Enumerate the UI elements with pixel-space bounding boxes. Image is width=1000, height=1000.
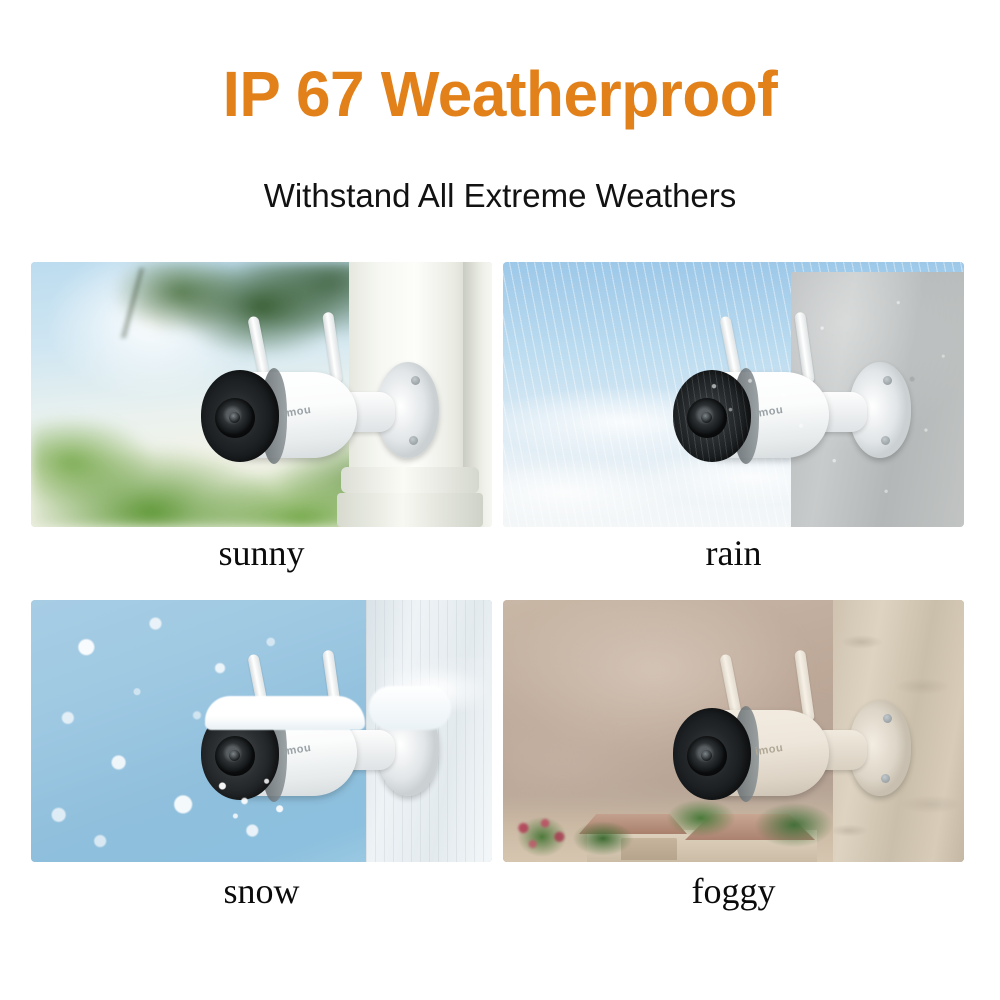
column-base — [337, 493, 483, 527]
mount-screw-top-icon — [883, 714, 892, 723]
photo-foggy: imou — [503, 600, 964, 862]
security-camera-snow: imou — [199, 648, 449, 823]
lens-glass — [701, 750, 712, 761]
security-camera-foggy: imou — [671, 648, 921, 823]
caption-rain: rain — [503, 530, 964, 576]
page-title: IP 67 Weatherproof — [15, 58, 985, 130]
caption-sunny: sunny — [31, 530, 492, 576]
caption-snow: snow — [31, 868, 492, 914]
mount-screw-top-icon — [411, 376, 420, 385]
shrub-b — [561, 812, 645, 860]
weather-tile-rain: imou rain — [503, 262, 964, 600]
mount-screw-bottom-icon — [881, 436, 890, 445]
caption-foggy: foggy — [503, 868, 964, 914]
weather-tile-foggy: imou foggy — [503, 600, 964, 934]
photo-rain: imou — [503, 262, 964, 527]
flowering-bush — [511, 816, 573, 856]
mount-screw-bottom-icon — [409, 436, 418, 445]
security-camera-rain: imou — [671, 310, 921, 485]
lens-glass — [229, 750, 240, 761]
page-subtitle: Withstand All Extreme Weathers — [0, 176, 1000, 216]
marketing-banner: IP 67 Weatherproof Withstand All Extreme… — [0, 0, 1000, 1000]
tree-branch — [61, 268, 211, 338]
weather-tile-snow: imou snow — [31, 600, 492, 934]
mount-screw-top-icon — [883, 376, 892, 385]
weather-tile-sunny: imou sunny — [31, 262, 492, 600]
security-camera-sunny: imou — [199, 310, 449, 485]
lens-glass — [229, 412, 240, 423]
mount-screw-bottom-icon — [881, 774, 890, 783]
falling-snow — [199, 768, 329, 828]
mount-snow-cap — [369, 686, 451, 730]
photo-sunny: imou — [31, 262, 492, 527]
body-snow-cap — [205, 696, 365, 730]
weather-gallery: imou sunny — [31, 262, 964, 934]
photo-snow: imou — [31, 600, 492, 862]
